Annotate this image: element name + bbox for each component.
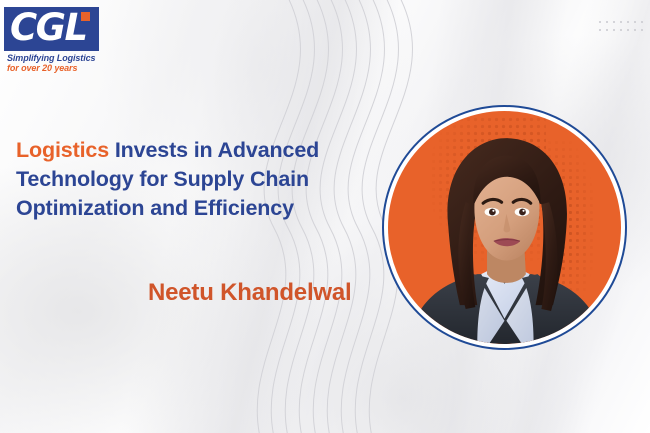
company-logo[interactable]: CGL Simplifying Logistics for over 20 ye… (4, 7, 104, 73)
headline-highlight: Logistics (16, 138, 109, 162)
portrait-photo (388, 111, 621, 344)
dot-grid-decoration (596, 18, 645, 34)
logo-tagline-primary: Simplifying Logistics (7, 53, 104, 63)
logo-tagline-secondary: for over 20 years (7, 63, 104, 73)
logo-wordmark: CGL (10, 5, 87, 51)
speaker-portrait (382, 105, 627, 350)
speaker-name: Neetu Khandelwal (148, 279, 352, 307)
speaker-announcement-banner: CGL Simplifying Logistics for over 20 ye… (0, 0, 650, 433)
portrait-circle (388, 111, 621, 344)
orange-square-icon (81, 12, 90, 21)
logo-badge: CGL (4, 7, 99, 51)
headline: Logistics Invests in Advanced Technology… (16, 136, 346, 223)
